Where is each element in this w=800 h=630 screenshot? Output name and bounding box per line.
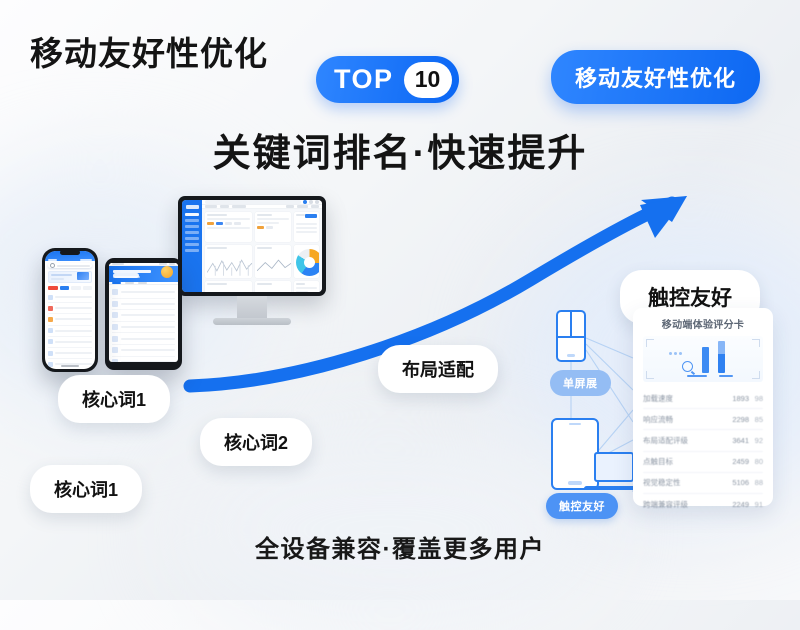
sidebar-item xyxy=(185,213,199,216)
keyword-pill-1: 核心词1 xyxy=(58,375,170,423)
monitor-bezel xyxy=(178,196,326,296)
diagram-pill-touch-friendly: 触控友好 xyxy=(546,493,618,519)
hero-decoration-icon xyxy=(161,266,173,278)
table-row: 跨端兼容评级 2249 91 xyxy=(643,494,763,514)
tab-item xyxy=(125,282,134,284)
chip xyxy=(83,286,93,290)
row-name: 布局适配评级 xyxy=(643,435,725,446)
gear-icon xyxy=(315,200,319,204)
row-name: 视觉稳定性 xyxy=(643,477,725,488)
list-item xyxy=(112,287,175,299)
dashboard-logo xyxy=(186,205,199,209)
row-delta: 88 xyxy=(749,478,763,487)
phone-notch xyxy=(60,250,80,255)
widget-chart-line xyxy=(255,245,290,278)
feature-pill-layout: 布局适配 xyxy=(378,345,498,393)
bell-icon xyxy=(309,200,313,204)
mini-phone-bottom-icon xyxy=(551,418,599,490)
row-value: 5106 xyxy=(725,478,749,487)
list-item xyxy=(48,337,92,348)
row-name: 加载速度 xyxy=(643,393,725,404)
widget-card xyxy=(205,212,252,242)
dashboard-main xyxy=(202,200,322,292)
page-title: 移动友好性优化 xyxy=(30,27,268,75)
phone-home-indicator xyxy=(61,365,79,367)
magnifier-icon xyxy=(682,361,693,372)
chip xyxy=(71,286,81,290)
list-item xyxy=(48,314,92,325)
desktop-monitor-mockup xyxy=(178,196,326,325)
widget-chart-area xyxy=(205,281,252,292)
widget-chart-area xyxy=(255,281,290,292)
score-card-table: 加载速度 1893 98 响应流畅 2298 85 布局适配评级 3641 92… xyxy=(643,388,763,514)
list-item xyxy=(48,303,92,314)
score-card-chart xyxy=(643,336,763,382)
chart-bar xyxy=(718,341,725,373)
sidebar-item xyxy=(185,237,199,240)
sidebar-item xyxy=(185,225,199,228)
tablet-hero-banner xyxy=(109,266,178,282)
table-row: 加载速度 1893 98 xyxy=(643,388,763,409)
tablet-list xyxy=(109,285,178,362)
chart-baseline xyxy=(719,375,733,378)
list-item xyxy=(112,345,175,357)
chart-baseline xyxy=(687,375,707,378)
chart-bar xyxy=(702,347,709,373)
widget-card xyxy=(255,212,290,242)
search-icon xyxy=(50,263,55,268)
hero-cta-button xyxy=(113,273,139,278)
table-row: 响应流畅 2298 85 xyxy=(643,409,763,430)
chip xyxy=(60,286,70,290)
widget-card xyxy=(294,281,319,292)
row-name: 响应流畅 xyxy=(643,414,725,425)
row-delta: 92 xyxy=(749,436,763,445)
row-value: 2249 xyxy=(725,500,749,509)
score-card: 移动端体验评分卡 加载速度 1893 98 响应流 xyxy=(633,308,773,506)
table-row: 点触目标 2459 80 xyxy=(643,452,763,473)
row-delta: 80 xyxy=(749,457,763,466)
tablet-mockup xyxy=(105,258,182,370)
phone-screen xyxy=(45,251,95,369)
list-item xyxy=(48,326,92,337)
top-badge-number: 10 xyxy=(404,62,452,98)
phone-result-list xyxy=(45,292,95,369)
table-row: 布局适配评级 3641 92 xyxy=(643,430,763,451)
sidebar-item xyxy=(185,231,199,234)
monitor-stand-neck xyxy=(237,296,267,318)
chart-bars xyxy=(643,341,763,373)
list-item xyxy=(112,357,175,362)
dashboard-sidebar xyxy=(182,200,202,292)
avatar xyxy=(303,200,307,204)
score-card-title: 移动端体验评分卡 xyxy=(643,316,763,331)
list-item xyxy=(112,333,175,345)
list-item xyxy=(112,322,175,334)
phone-search-input[interactable] xyxy=(48,263,92,268)
promo-thumbnail xyxy=(77,272,89,280)
monitor-screen xyxy=(182,200,322,292)
list-item xyxy=(48,348,92,359)
poster-canvas: 移动友好性优化 TOP 10 移动友好性优化 关键词排名·快速提升 全设备兼容·… xyxy=(0,0,800,600)
sidebar-item xyxy=(185,249,199,252)
phone-category-chips xyxy=(45,283,95,292)
list-item xyxy=(112,299,175,311)
top-rank-badge: TOP 10 xyxy=(316,56,459,103)
dashboard-widget-grid xyxy=(202,209,322,292)
dashboard-search-input xyxy=(205,200,301,204)
mini-laptop-icon xyxy=(594,452,634,490)
row-delta: 91 xyxy=(749,500,763,509)
tab-item xyxy=(112,282,121,284)
list-item xyxy=(48,359,92,369)
mini-phone-top-icon xyxy=(556,310,586,362)
widget-chart-donut xyxy=(294,245,319,278)
chip xyxy=(48,286,58,290)
phone-mockup xyxy=(42,248,98,372)
sidebar-item xyxy=(185,219,199,222)
phone-promo-card xyxy=(48,271,92,283)
monitor-stand-base xyxy=(213,318,291,325)
row-delta: 98 xyxy=(749,394,763,403)
widget-card xyxy=(294,212,319,242)
tablet-screen xyxy=(109,263,178,362)
top-badge-label: TOP xyxy=(334,64,394,95)
row-value: 2298 xyxy=(725,415,749,424)
list-item xyxy=(48,292,92,303)
donut-chart xyxy=(296,249,319,276)
sidebar-item xyxy=(185,243,199,246)
page-footer-text: 全设备兼容·覆盖更多用户 xyxy=(0,529,800,564)
device-connection-diagram: 单屏展 触控友好 移动端体验评分卡 加载速度 xyxy=(528,300,783,515)
diagram-pill-single-screen: 单屏展 xyxy=(550,370,611,396)
keyword-pill-3: 核心词1 xyxy=(30,465,142,513)
widget-chart-line xyxy=(205,245,252,278)
corner-tag-pill: 移动友好性优化 xyxy=(551,50,760,104)
tab-item xyxy=(138,282,147,284)
row-name: 跨端兼容评级 xyxy=(643,499,725,510)
row-value: 1893 xyxy=(725,394,749,403)
row-value: 3641 xyxy=(725,436,749,445)
keyword-pill-2: 核心词2 xyxy=(200,418,312,466)
row-name: 点触目标 xyxy=(643,456,725,467)
list-item xyxy=(112,310,175,322)
page-subtitle: 关键词排名·快速提升 xyxy=(0,122,800,177)
table-row: 视觉稳定性 5106 88 xyxy=(643,473,763,494)
row-delta: 85 xyxy=(749,415,763,424)
row-value: 2459 xyxy=(725,457,749,466)
